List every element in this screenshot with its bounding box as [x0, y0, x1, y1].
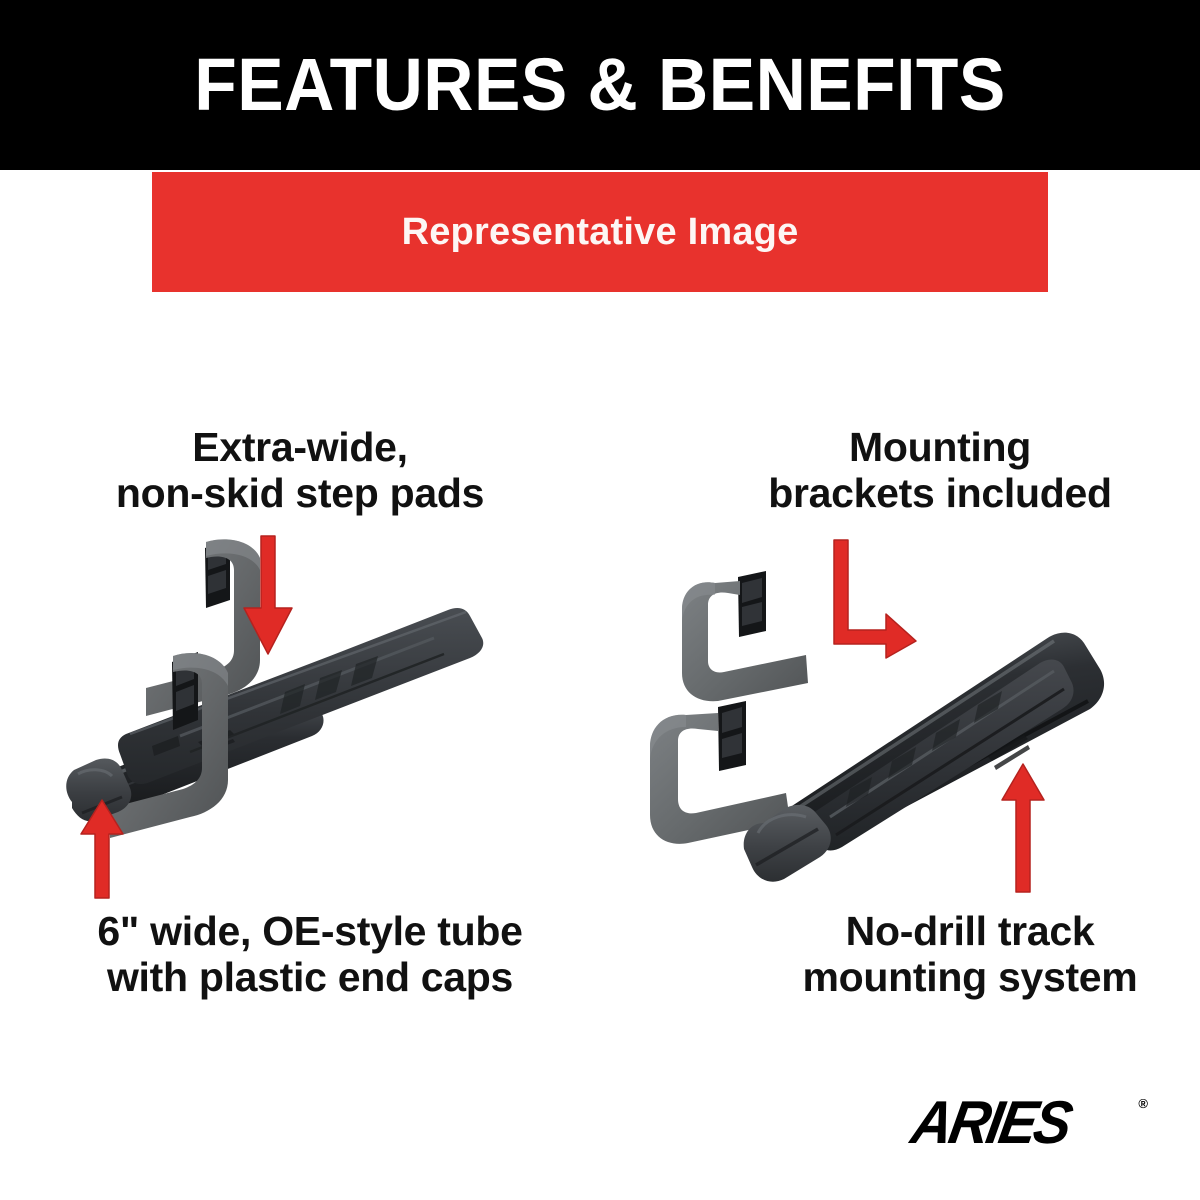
callout-label-mounting-brackets: Mounting brackets included [700, 424, 1180, 517]
mounting-bracket-rear [682, 571, 808, 701]
up-arrow-icon [998, 760, 1048, 896]
aries-wordmark: ARIES [907, 1092, 1074, 1152]
up-arrow-icon [78, 798, 126, 902]
elbow-right-arrow-icon [828, 536, 920, 660]
registered-trademark-icon: ® [1138, 1096, 1148, 1111]
aries-logo: ARIES ® [918, 1092, 1148, 1154]
callout-label-no-drill-track: No-drill track mounting system [760, 908, 1180, 1001]
page-title: FEATURES & BENEFITS [36, 0, 1164, 170]
callout-label-tube-end-caps: 6" wide, OE-style tube with plastic end … [30, 908, 590, 1001]
representative-image-label: Representative Image [402, 213, 799, 251]
representative-image-banner: Representative Image [152, 172, 1048, 292]
down-arrow-icon [240, 534, 296, 658]
product-feature-graphic: FEATURES & BENEFITS Representative Image [0, 0, 1200, 1200]
callout-label-step-pads: Extra-wide, non-skid step pads [40, 424, 560, 517]
